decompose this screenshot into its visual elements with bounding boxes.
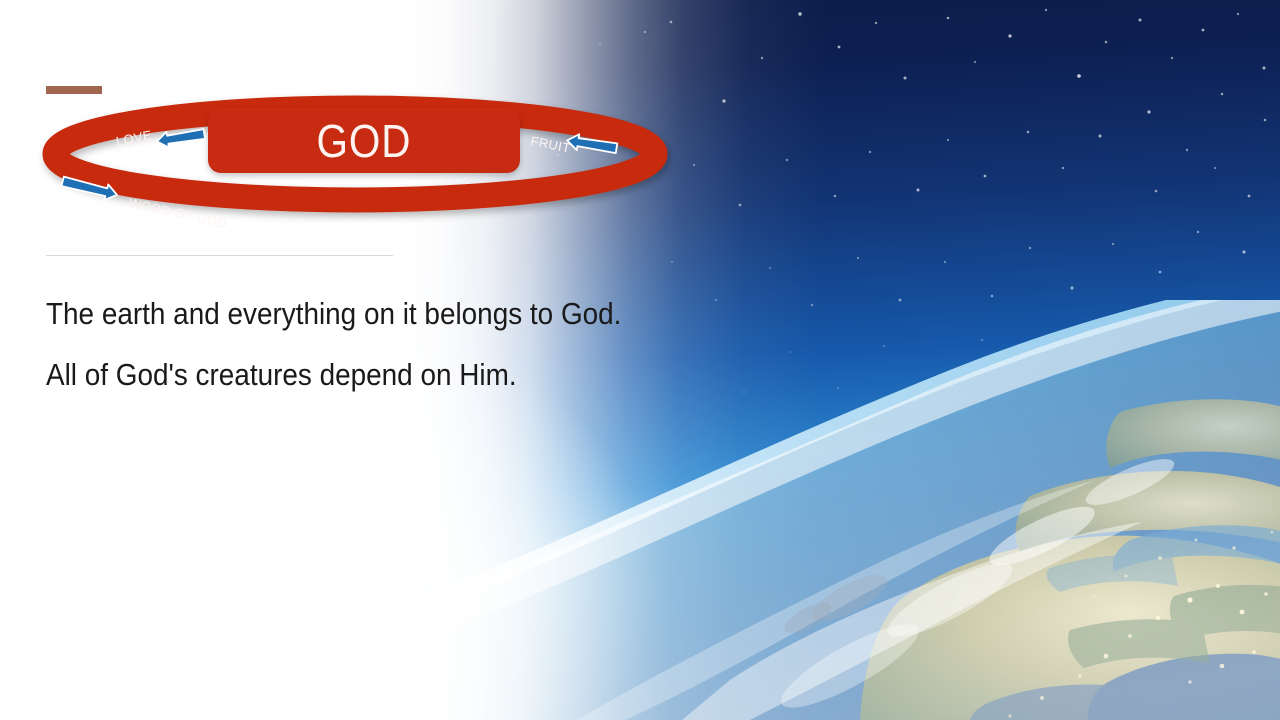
body-line-2: All of God's creatures depend on Him.: [46, 344, 676, 405]
slide: LOVE FRUIT WORD OF GOD GOD The earth an: [0, 0, 1280, 720]
node-label-fruit: FRUIT: [529, 133, 571, 155]
body-line-1: The earth and everything on it belongs t…: [46, 283, 676, 344]
content-divider: [46, 255, 393, 256]
body-text: The earth and everything on it belongs t…: [46, 283, 746, 405]
diagram-center-node[interactable]: GOD: [208, 108, 520, 173]
diagram-center-label: GOD: [317, 118, 412, 164]
